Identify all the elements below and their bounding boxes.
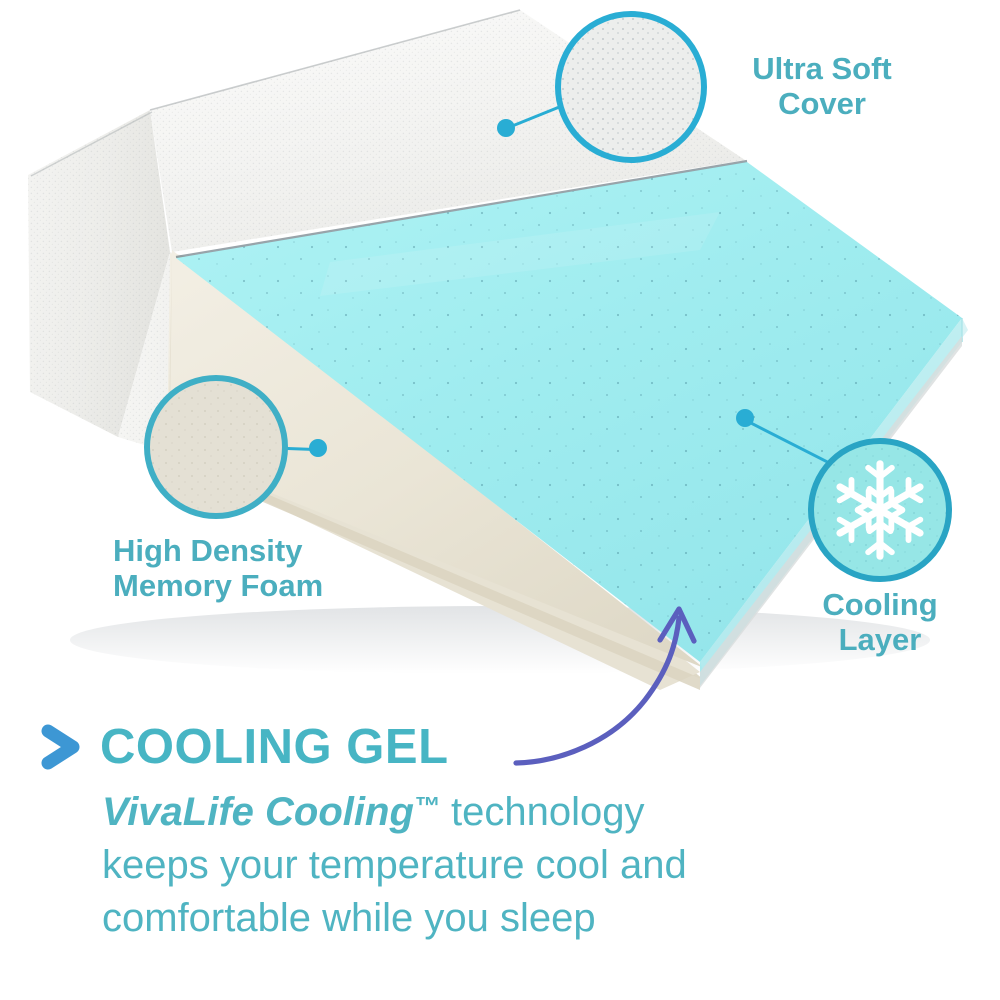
headline-row: COOLING GEL [40,716,970,778]
infographic-canvas: Ultra Soft Cover High Density Memory Foa… [0,0,1000,1000]
body-line-2: keeps your temperature cool and [102,843,687,887]
callout-bubble-ultra-soft-cover[interactable] [555,11,707,163]
body-copy: VivaLife Cooling™ technology keeps your … [102,786,970,946]
callout-label-high-density-memory-foam: High Density Memory Foam [113,534,413,603]
page-title: COOLING GEL [100,723,449,772]
copy-block: COOLING GEL VivaLife Cooling™ technology… [40,716,970,946]
callout-bubble-high-density-memory-foam[interactable] [144,375,288,519]
snowflake-icon [814,444,946,576]
leader-dot-cooling-layer [736,409,754,427]
callout-bubble-cooling-layer[interactable] [808,438,952,582]
callout-label-ultra-soft-cover: Ultra Soft Cover [722,52,922,121]
body-line-3: comfortable while you sleep [102,896,596,940]
chevron-right-icon [40,724,82,770]
trademark-symbol: ™ [414,791,440,821]
brand-phrase: VivaLife Cooling [102,790,414,834]
leader-dot-memory-foam [309,439,327,457]
callout-label-cooling-layer: Cooling Layer [790,588,970,657]
body-line-1: technology [440,790,645,834]
leader-dot-ultra-soft-cover [497,119,515,137]
